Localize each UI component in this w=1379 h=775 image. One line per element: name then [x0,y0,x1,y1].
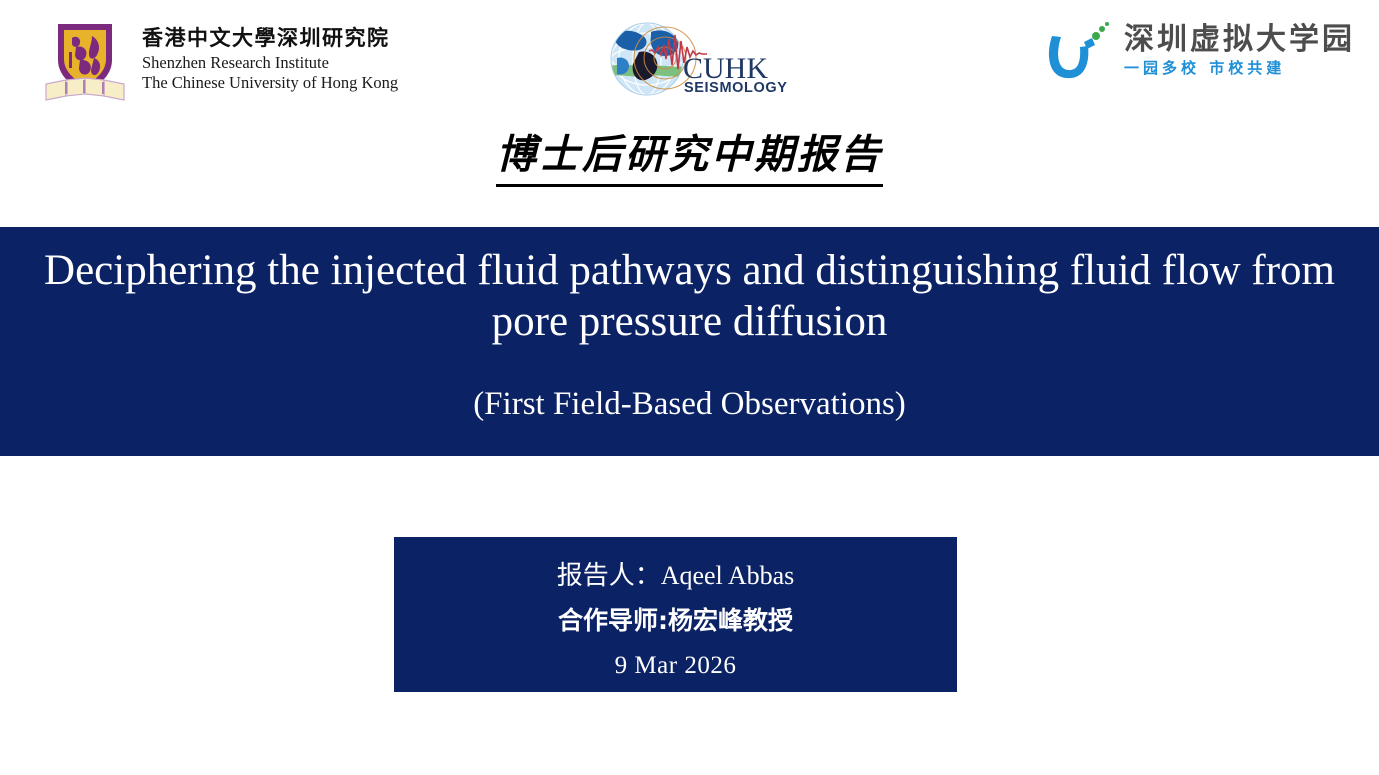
presenter-info-box: 报告人：Aqeel Abbas 合作导师:杨宏峰教授 9 Mar 2026 [394,537,957,692]
shenzhen-virtual-university-park-logo: 深圳虚拟大学园 一园多校 市校共建 [1040,20,1355,96]
cuhk-english-line2: The Chinese University of Hong Kong [142,73,398,93]
cuhk-chinese-name: 香港中文大學深圳研究院 [142,26,398,50]
presentation-title: Deciphering the injected fluid pathways … [0,246,1379,347]
presentation-subtitle: (First Field-Based Observations) [0,385,1379,425]
chinese-heading-text: 博士后研究中期报告 [496,131,883,187]
presenter-supervisor: 合作导师:杨宏峰教授 [394,599,957,644]
seismology-subtitle: SEISMOLOGY [684,81,788,96]
u-swoosh-icon [1040,20,1114,92]
svu-main-text: 深圳虚拟大学园 [1124,24,1355,56]
cuhk-sri-logo: 香港中文大學深圳研究院 Shenzhen Research Institute … [36,16,398,104]
title-banner: Deciphering the injected fluid pathways … [0,227,1379,456]
svu-sub-text: 一园多校 市校共建 [1124,60,1355,77]
cuhk-shield-icon [36,16,134,104]
cuhk-seismology-logo: CUHK SEISMOLOGY [605,18,780,102]
chinese-heading: 博士后研究中期报告 [0,131,1379,187]
cuhk-english-line1: Shenzhen Research Institute [142,53,398,73]
presentation-date: 9 Mar 2026 [394,644,957,689]
logo-bar: 香港中文大學深圳研究院 Shenzhen Research Institute … [0,0,1379,118]
presenter-speaker: 报告人：Aqeel Abbas [394,553,957,599]
